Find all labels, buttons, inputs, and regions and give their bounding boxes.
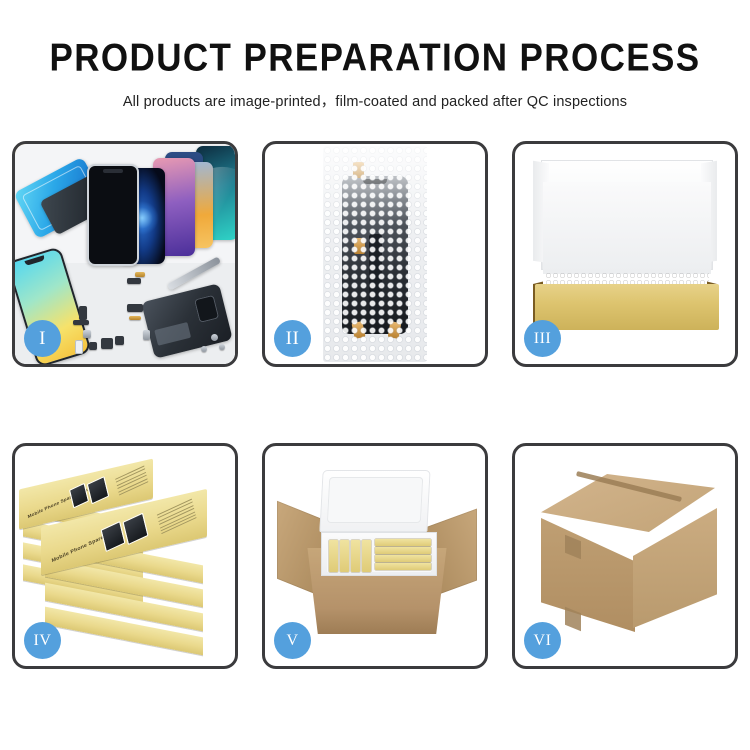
small-part [89,342,97,350]
front-glass-panel [87,164,139,266]
box-spec-lines [157,499,197,537]
page-subtitle: All products are image-printed，film-coat… [0,90,750,111]
step-panel-2[interactable]: II [262,141,488,367]
small-part [127,304,143,312]
small-part [135,272,145,277]
process-steps-grid: I II [12,141,738,669]
product-preparation-infographic: PRODUCT PREPARATION PROCESS All products… [0,0,750,750]
packed-box [375,547,431,554]
small-part [129,316,141,320]
packed-box [362,540,371,572]
box-window-screen [87,476,109,504]
packed-box [351,540,360,572]
step-2-image: II [265,144,485,364]
small-part [115,336,124,345]
mailer-tray-yellow [535,284,719,330]
page-title: PRODUCT PREPARATION PROCESS [0,38,750,77]
bubble-wrap-texture [323,146,427,362]
box-window-screen [101,521,126,552]
step-4-image: Mobile Phone Spare Parts Mobile Phone Sp… [15,446,235,666]
step-badge-6: VI [524,622,561,659]
step-panel-1[interactable]: I [12,141,238,367]
step-3-image: III [515,144,735,364]
foam-lid [319,470,430,532]
mailer-inner-wall [543,182,711,274]
step-badge-4: IV [24,622,61,659]
step-5-image: V [265,446,485,666]
packed-box [375,563,431,570]
small-part [101,338,113,349]
step-panel-4[interactable]: Mobile Phone Spare Parts Mobile Phone Sp… [12,443,238,669]
step-badge-5: V [274,622,311,659]
step-badge-2: II [274,320,311,357]
screw-part [211,334,218,341]
step-6-image: VI [515,446,735,666]
step-badge-1: I [24,320,61,357]
packed-box [340,540,349,572]
packed-box [375,539,431,546]
header: PRODUCT PREPARATION PROCESS All products… [0,0,750,111]
small-part [75,340,83,354]
small-part [143,330,150,340]
bubble-wrap-sheet [323,146,427,362]
box-window-screen [122,513,148,546]
step-panel-6[interactable]: VI [512,443,738,669]
packed-box [329,540,338,572]
small-part [83,330,91,338]
box-spec-lines [115,465,149,497]
step-badge-3: III [524,320,561,357]
step-1-image: I [15,144,235,364]
step-panel-3[interactable]: III [512,141,738,367]
small-part [73,320,89,325]
packed-box [375,555,431,562]
carton-left-face [541,518,635,632]
step-panel-5[interactable]: V [262,443,488,669]
small-part [127,278,141,284]
small-part [79,306,87,320]
screw-part [201,346,207,352]
screw-part [219,344,225,350]
